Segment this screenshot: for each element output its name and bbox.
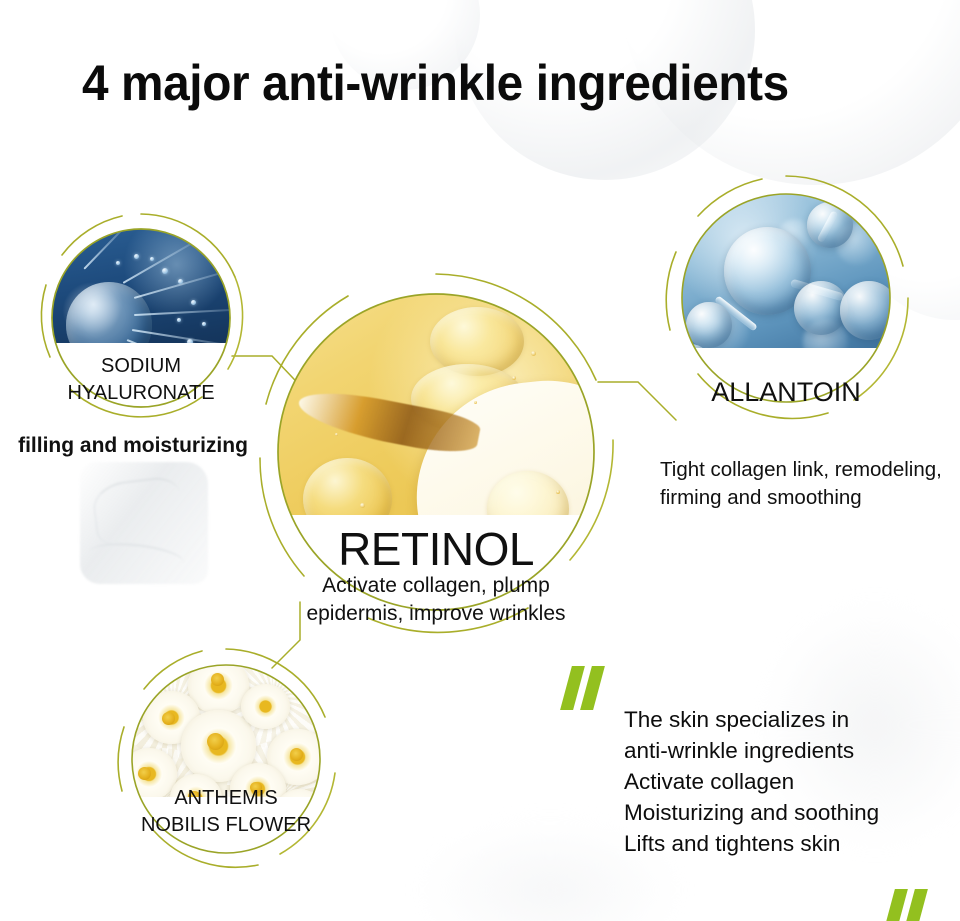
caption-line-2: epidermis, improve wrinkles	[252, 600, 620, 628]
infographic-canvas: 4 major anti-wrinkle ingredients	[0, 0, 960, 921]
flower-blossom	[241, 684, 290, 729]
ingredient-anthemis-nobilis-flower[interactable]: ANTHEMIS NOBILIS FLOWER	[110, 643, 342, 875]
allantoin-caption-wrap: Tight collagen link, remodeling, firming…	[660, 456, 960, 512]
sodium-hyaluronate-caption: filling and moisturizing	[8, 432, 258, 460]
sodium-hyaluronate-caption-wrap: filling and moisturizing	[8, 432, 258, 460]
quote-line: The skin specializes in	[624, 704, 960, 735]
molecule-sphere	[807, 202, 853, 248]
allantoin-label: ALLANTOIN	[658, 376, 914, 408]
label-line-2: NOBILIS FLOWER	[110, 812, 342, 839]
allantoin-caption-line-1: Tight collagen link, remodeling,	[660, 456, 960, 484]
quote-open-icon	[566, 666, 599, 710]
caption-line-1: Activate collagen, plump	[252, 572, 620, 600]
quote-close-icon	[889, 889, 922, 921]
quote-line: Lifts and tightens skin	[624, 828, 960, 859]
page-title: 4 major anti-wrinkle ingredients	[82, 54, 789, 112]
label-line-2: HYALURONATE	[30, 380, 252, 407]
ingredient-allantoin[interactable]: ALLANTOIN	[658, 170, 914, 426]
ice-cube-watermark	[80, 462, 208, 584]
ingredient-retinol[interactable]: RETINOL Activate collagen, plump epiderm…	[252, 268, 620, 636]
molecule-sphere	[686, 302, 732, 348]
quote-line: anti-wrinkle ingredients	[624, 735, 960, 766]
sodium-hyaluronate-label: SODIUM HYALURONATE	[30, 353, 252, 407]
anthemis-nobilis-flower-label: ANTHEMIS NOBILIS FLOWER	[110, 785, 342, 839]
label-line-1: SODIUM	[30, 353, 252, 380]
label-line-1: ALLANTOIN	[658, 376, 914, 408]
allantoin-image	[682, 194, 890, 402]
label-line-1: ANTHEMIS	[110, 785, 342, 812]
molecule-sphere	[840, 281, 890, 339]
quote-text-block: The skin specializes in anti-wrinkle ing…	[624, 704, 960, 859]
quote-line: Moisturizing and soothing	[624, 797, 960, 828]
quote-line: Activate collagen	[624, 766, 960, 797]
retinol-label: RETINOL	[252, 524, 620, 574]
label-line-1: RETINOL	[252, 524, 620, 574]
ingredient-sodium-hyaluronate[interactable]: SODIUM HYALURONATE	[30, 207, 252, 429]
retinol-caption: Activate collagen, plump epidermis, impr…	[252, 572, 620, 628]
allantoin-caption-line-2: firming and smoothing	[660, 484, 960, 512]
